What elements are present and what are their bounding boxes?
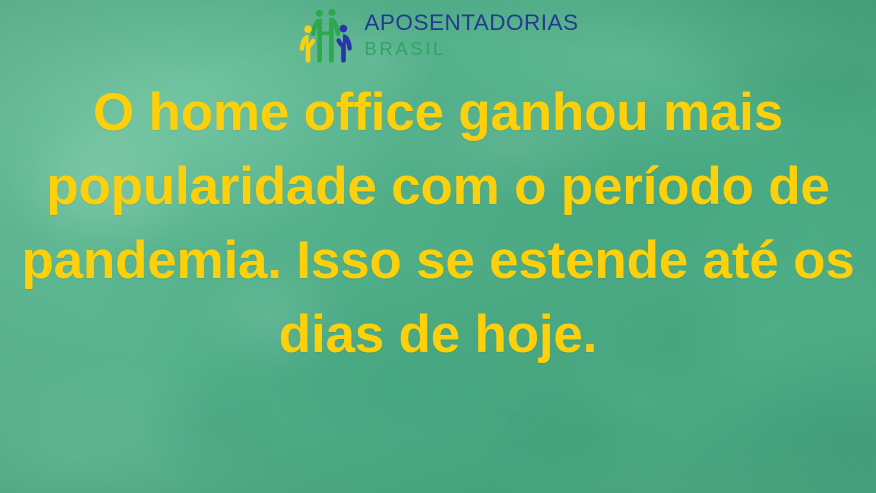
- brand-logo: APOSENTADORIAS BRASIL: [0, 6, 876, 64]
- headline-line-1: O home office ganhou mais: [6, 76, 870, 150]
- three-people-logo-icon: [297, 6, 355, 64]
- social-media-quote-card: APOSENTADORIAS BRASIL O home office ganh…: [0, 0, 876, 493]
- brand-wordmark: APOSENTADORIAS BRASIL: [364, 12, 578, 59]
- headline-line-3: pandemia. Isso se estende até os: [6, 224, 870, 298]
- headline-line-2: popularidade com o período de: [6, 150, 870, 224]
- headline-line-4: dias de hoje.: [6, 298, 870, 372]
- headline-text: O home office ganhou mais popularidade c…: [0, 76, 876, 372]
- brand-name: APOSENTADORIAS: [364, 12, 578, 35]
- brand-tagline: BRASIL: [364, 40, 578, 59]
